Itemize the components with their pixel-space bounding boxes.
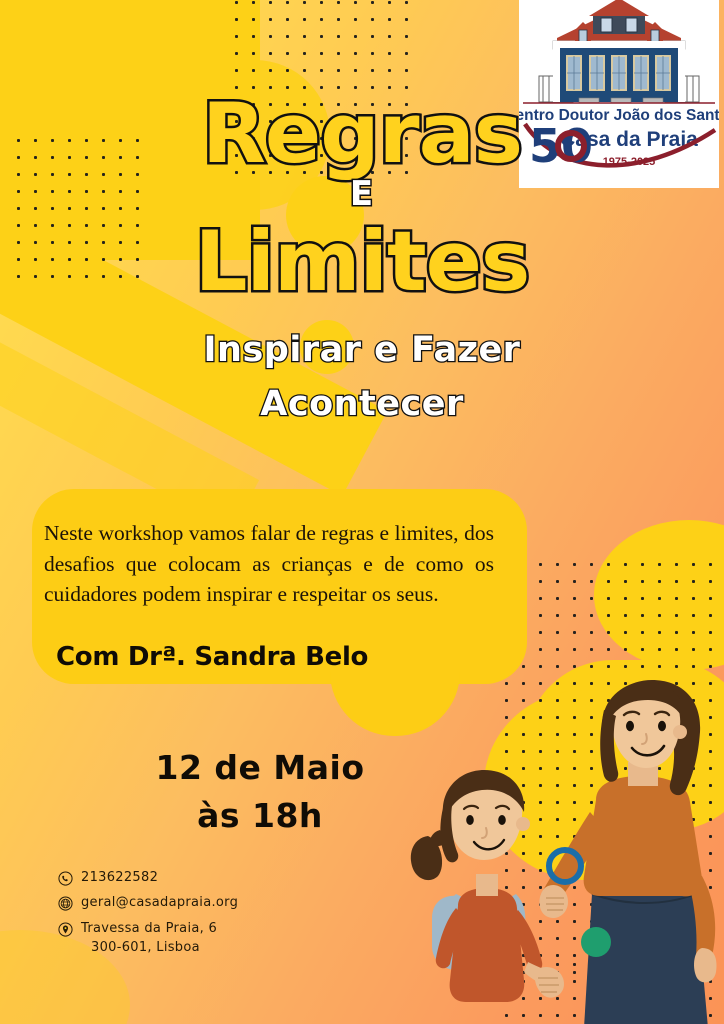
- globe-icon: [58, 896, 73, 911]
- location-pin-icon: [58, 922, 73, 937]
- street-address: Travessa da Praia, 6 300-601, Lisboa: [81, 921, 217, 957]
- contact-info: 213622582 geral@casadapraia.org: [58, 870, 238, 965]
- subtitle-line-1: Inspirar e Fazer: [0, 324, 724, 377]
- blue-ring-decoration: [546, 847, 584, 885]
- address-line-1: Travessa da Praia, 6: [81, 921, 217, 936]
- event-time: às 18h: [110, 792, 410, 840]
- contact-row-phone: 213622582: [58, 870, 238, 886]
- address-line-2: 300-601, Lisboa: [91, 940, 217, 956]
- email-address: geral@casadapraia.org: [81, 895, 238, 911]
- subtitle-line-2: Acontecer: [0, 378, 724, 431]
- phone-number: 213622582: [81, 870, 158, 886]
- event-date-block: 12 de Maio às 18h: [110, 744, 410, 840]
- title-line-regras: Regras: [0, 96, 724, 172]
- title-block: Regras E Limites Inspirar e Fazer Aconte…: [0, 96, 724, 431]
- presenter-name: Com Drª. Sandra Belo: [56, 642, 368, 672]
- contact-row-address: Travessa da Praia, 6 300-601, Lisboa: [58, 921, 238, 957]
- title-conjunction-e: E: [0, 172, 724, 218]
- title-line-limites: Limites: [0, 222, 724, 302]
- phone-icon: [58, 871, 73, 886]
- poster-canvas: Centro Doutor João dos Santos Casa da Pr…: [0, 0, 724, 1024]
- contact-row-email: geral@casadapraia.org: [58, 895, 238, 911]
- description-text: Neste workshop vamos falar de regras e l…: [44, 518, 494, 610]
- event-date: 12 de Maio: [110, 744, 410, 792]
